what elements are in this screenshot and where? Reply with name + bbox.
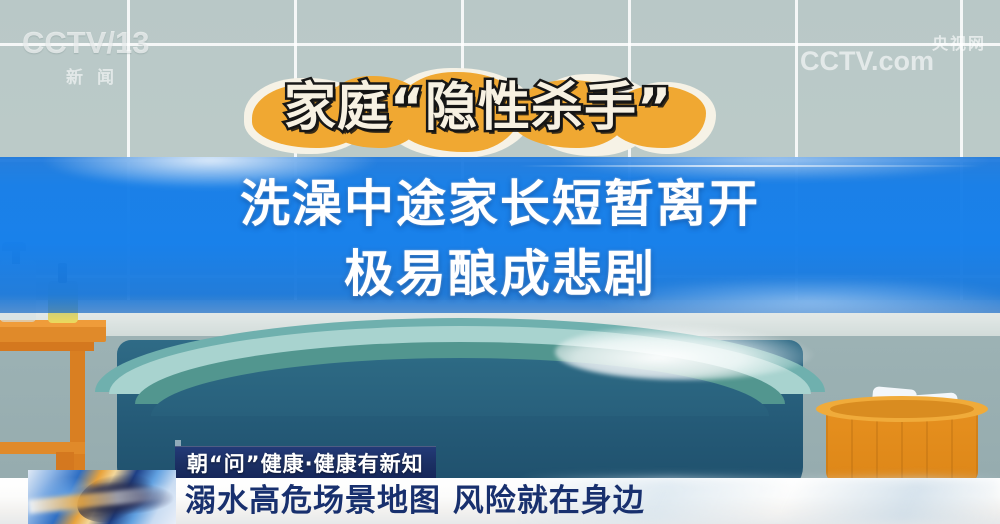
basket-rim-inner <box>830 400 974 418</box>
banner-light-streak <box>520 165 980 167</box>
cctv-com-cn-text: 央视网 <box>932 30 986 54</box>
headline-text: 家庭“隐性杀手” <box>248 72 708 144</box>
cctv13-logo-subtext: 新闻 <box>22 63 172 88</box>
broadcast-frame: CCTV/13 新闻 央视网 CCTV.com 家庭“隐性杀手” 洗澡中途家长短… <box>0 0 1000 524</box>
banner-text-line1: 洗澡中途家长短暂离开 <box>0 173 1000 235</box>
headline-group: 家庭“隐性杀手” <box>248 68 708 152</box>
wooden-basket <box>816 388 988 492</box>
cctv13-logo-text: CCTV/13 <box>22 26 172 60</box>
stool-lip <box>0 342 94 351</box>
cctv-com-en-text: CCTV.com <box>800 46 934 77</box>
program-logo <box>28 470 176 524</box>
lower-third-headline: 溺水高危场景地图 风险就在身边 <box>185 482 645 520</box>
banner-text-line2: 极易酿成悲剧 <box>0 243 1000 305</box>
cctv-com-watermark: 央视网 CCTV.com <box>800 30 990 80</box>
bathtub-highlight <box>555 324 815 380</box>
lower-third-topic: 朝“问”健康·健康有新知 <box>175 446 436 478</box>
cctv13-watermark: CCTV/13 新闻 <box>22 26 172 88</box>
lower-third-topic-label: 朝“问”健康·健康有新知 <box>187 448 424 478</box>
